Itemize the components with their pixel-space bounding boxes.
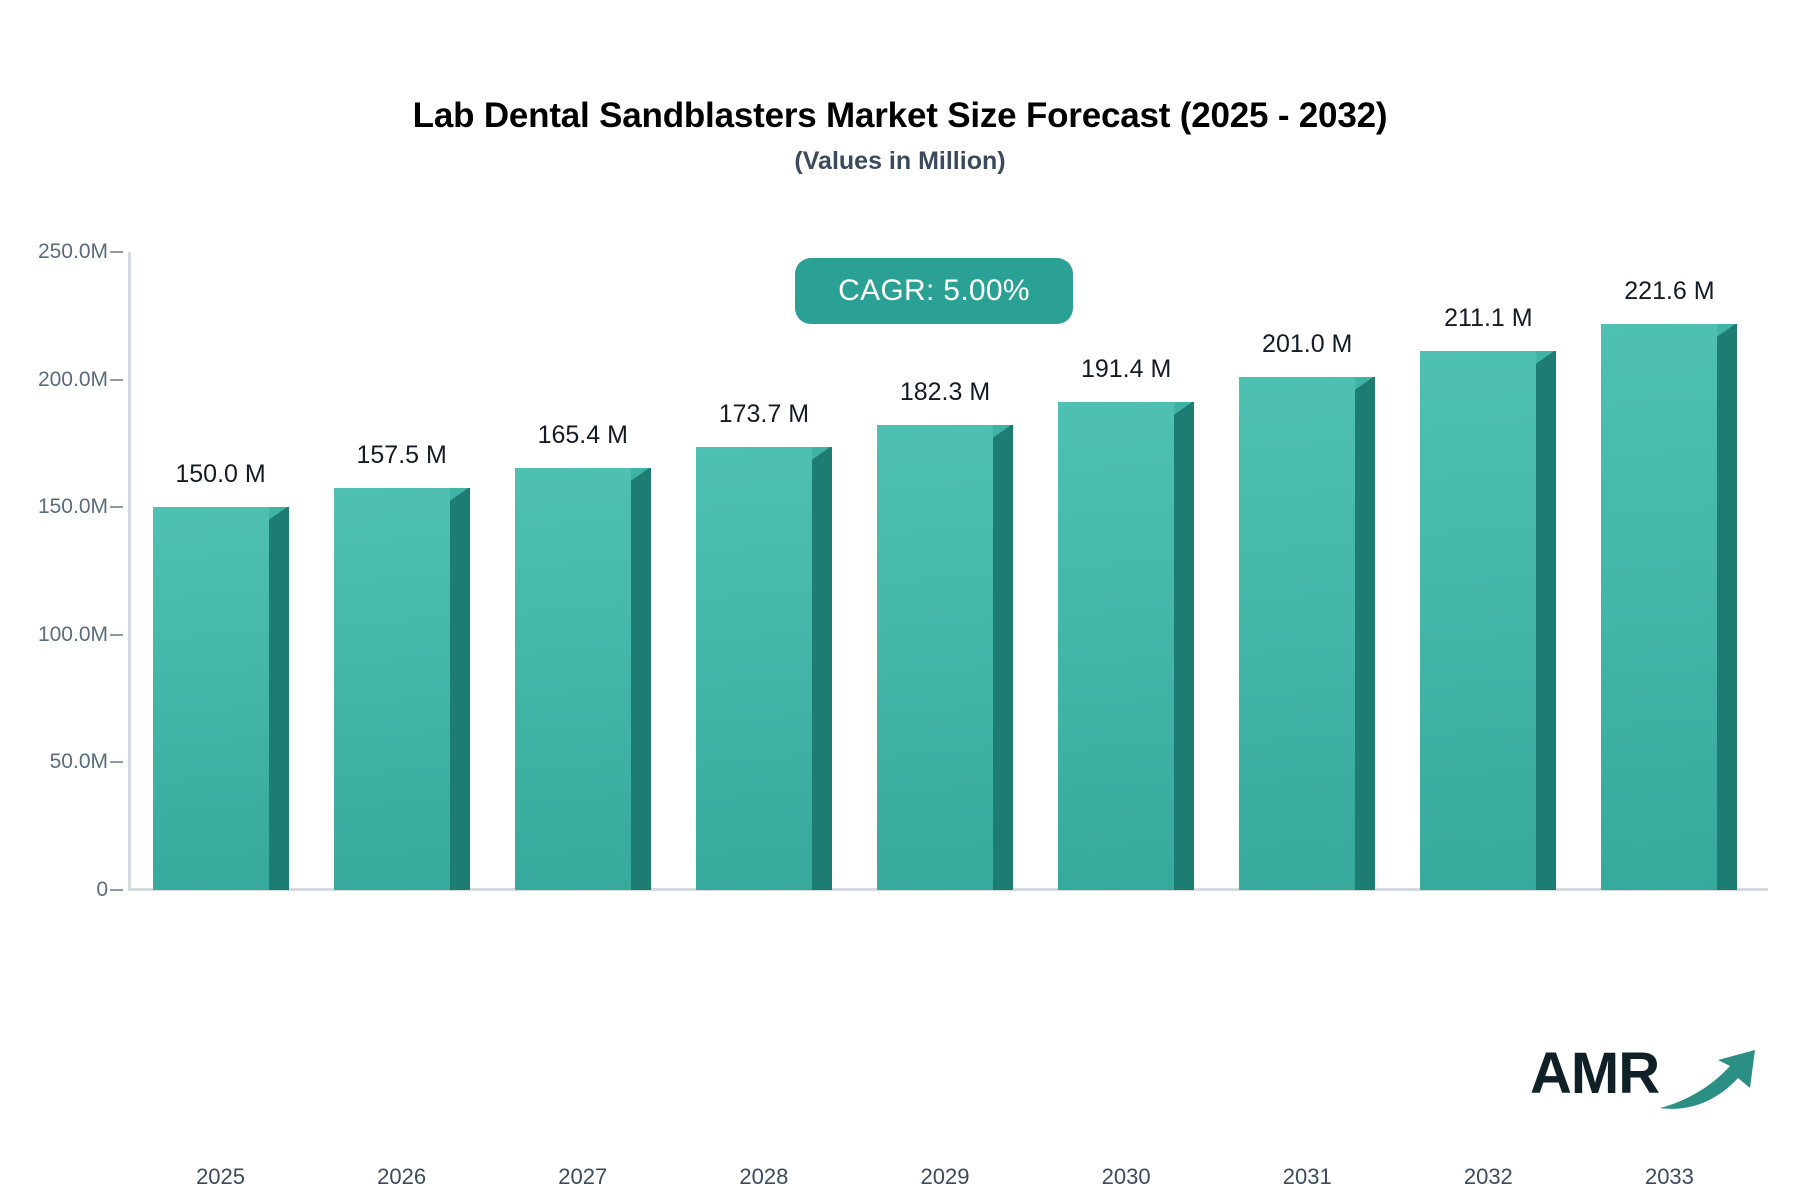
bar-column[interactable]: 173.7 M2028 [696,252,812,890]
bar-front-face [877,425,993,890]
bar-value-label: 182.3 M [900,378,990,407]
x-axis-tick-label: 2032 [1464,1164,1513,1190]
x-axis-tick-label: 2029 [921,1164,970,1190]
bar-column[interactable]: 201.0 M2031 [1239,252,1355,890]
x-axis-tick-label: 2027 [558,1164,607,1190]
bar-side-face [631,482,651,890]
bar-column[interactable]: 165.4 M2027 [515,252,631,890]
growth-arrow-icon [1658,1046,1763,1116]
bar-value-label: 150.0 M [175,460,265,489]
bar-side-face [1174,416,1194,890]
bar-front-face [1601,324,1717,890]
x-axis-tick-label: 2031 [1283,1164,1332,1190]
bar-value-label: 221.6 M [1624,277,1714,306]
page-title: Lab Dental Sandblasters Market Size Fore… [0,96,1800,136]
chart-container: Lab Dental Sandblasters Market Size Fore… [0,0,1800,1156]
bar-top-bevel [1717,324,1737,338]
bar-side-face [1355,391,1375,890]
chart-subtitle: (Values in Million) [0,147,1800,176]
y-axis-tick-mark [110,251,123,253]
bar-side-face [269,521,289,890]
plot-area: 150.0 M2025157.5 M2026165.4 M2027173.7 M… [130,252,1760,890]
y-axis-tick-mark [110,634,123,636]
y-axis-tick-label: 250.0M [38,240,108,264]
x-axis-tick-label: 2025 [196,1164,245,1190]
bar-column[interactable]: 157.5 M2026 [334,252,450,890]
bar-column[interactable]: 221.6 M2033 [1601,252,1717,890]
y-axis-tick-mark [110,889,123,891]
bar-front-face [696,447,812,890]
x-axis-tick-label: 2033 [1645,1164,1694,1190]
bar-top-bevel [812,447,832,461]
bar-value-label: 201.0 M [1262,330,1352,359]
bar-top-bevel [450,488,470,502]
amr-logo-text: AMR [1530,1040,1659,1107]
bar-side-face [450,502,470,890]
y-axis-tick-mark [110,379,123,381]
bar-top-bevel [993,425,1013,439]
y-axis-tick-marks [110,0,126,1156]
x-axis-tick-label: 2028 [739,1164,788,1190]
bar-front-face [1058,402,1174,890]
y-axis-tick-label: 50.0M [50,750,108,774]
amr-logo: AMR [1530,1040,1760,1120]
bar-top-bevel [631,468,651,482]
bar-column[interactable]: 191.4 M2030 [1058,252,1174,890]
bar-side-face [993,439,1013,890]
bar-top-bevel [269,507,289,521]
bar-value-label: 165.4 M [538,421,628,450]
bar-front-face [153,507,269,890]
bar-column[interactable]: 182.3 M2029 [877,252,993,890]
bar-column[interactable]: 150.0 M2025 [153,252,269,890]
y-axis-tick-label: 0 [96,878,108,902]
bar-front-face [1420,351,1536,890]
bar-side-face [1536,365,1556,890]
bar-value-label: 211.1 M [1444,304,1532,333]
y-axis-tick-mark [110,506,123,508]
bar-column[interactable]: 211.1 M2032 [1420,252,1536,890]
y-axis-tick-label: 150.0M [38,495,108,519]
y-axis-tick-label: 200.0M [38,368,108,392]
x-axis-tick-label: 2030 [1102,1164,1151,1190]
bar-front-face [515,468,631,890]
bar-value-label: 173.7 M [719,400,809,429]
bar-front-face [1239,377,1355,890]
bar-top-bevel [1355,377,1375,391]
bar-top-bevel [1174,402,1194,416]
bar-side-face [812,461,832,890]
bar-side-face [1717,338,1737,890]
y-axis-tick-label: 100.0M [38,623,108,647]
x-axis-tick-label: 2026 [377,1164,426,1190]
bar-top-bevel [1536,351,1556,365]
bar-value-label: 157.5 M [356,441,446,470]
bar-front-face [334,488,450,890]
bar-value-label: 191.4 M [1081,355,1171,384]
y-axis-tick-mark [110,761,123,763]
y-axis-tick-labels: 050.0M100.0M150.0M200.0M250.0M [0,0,108,1156]
